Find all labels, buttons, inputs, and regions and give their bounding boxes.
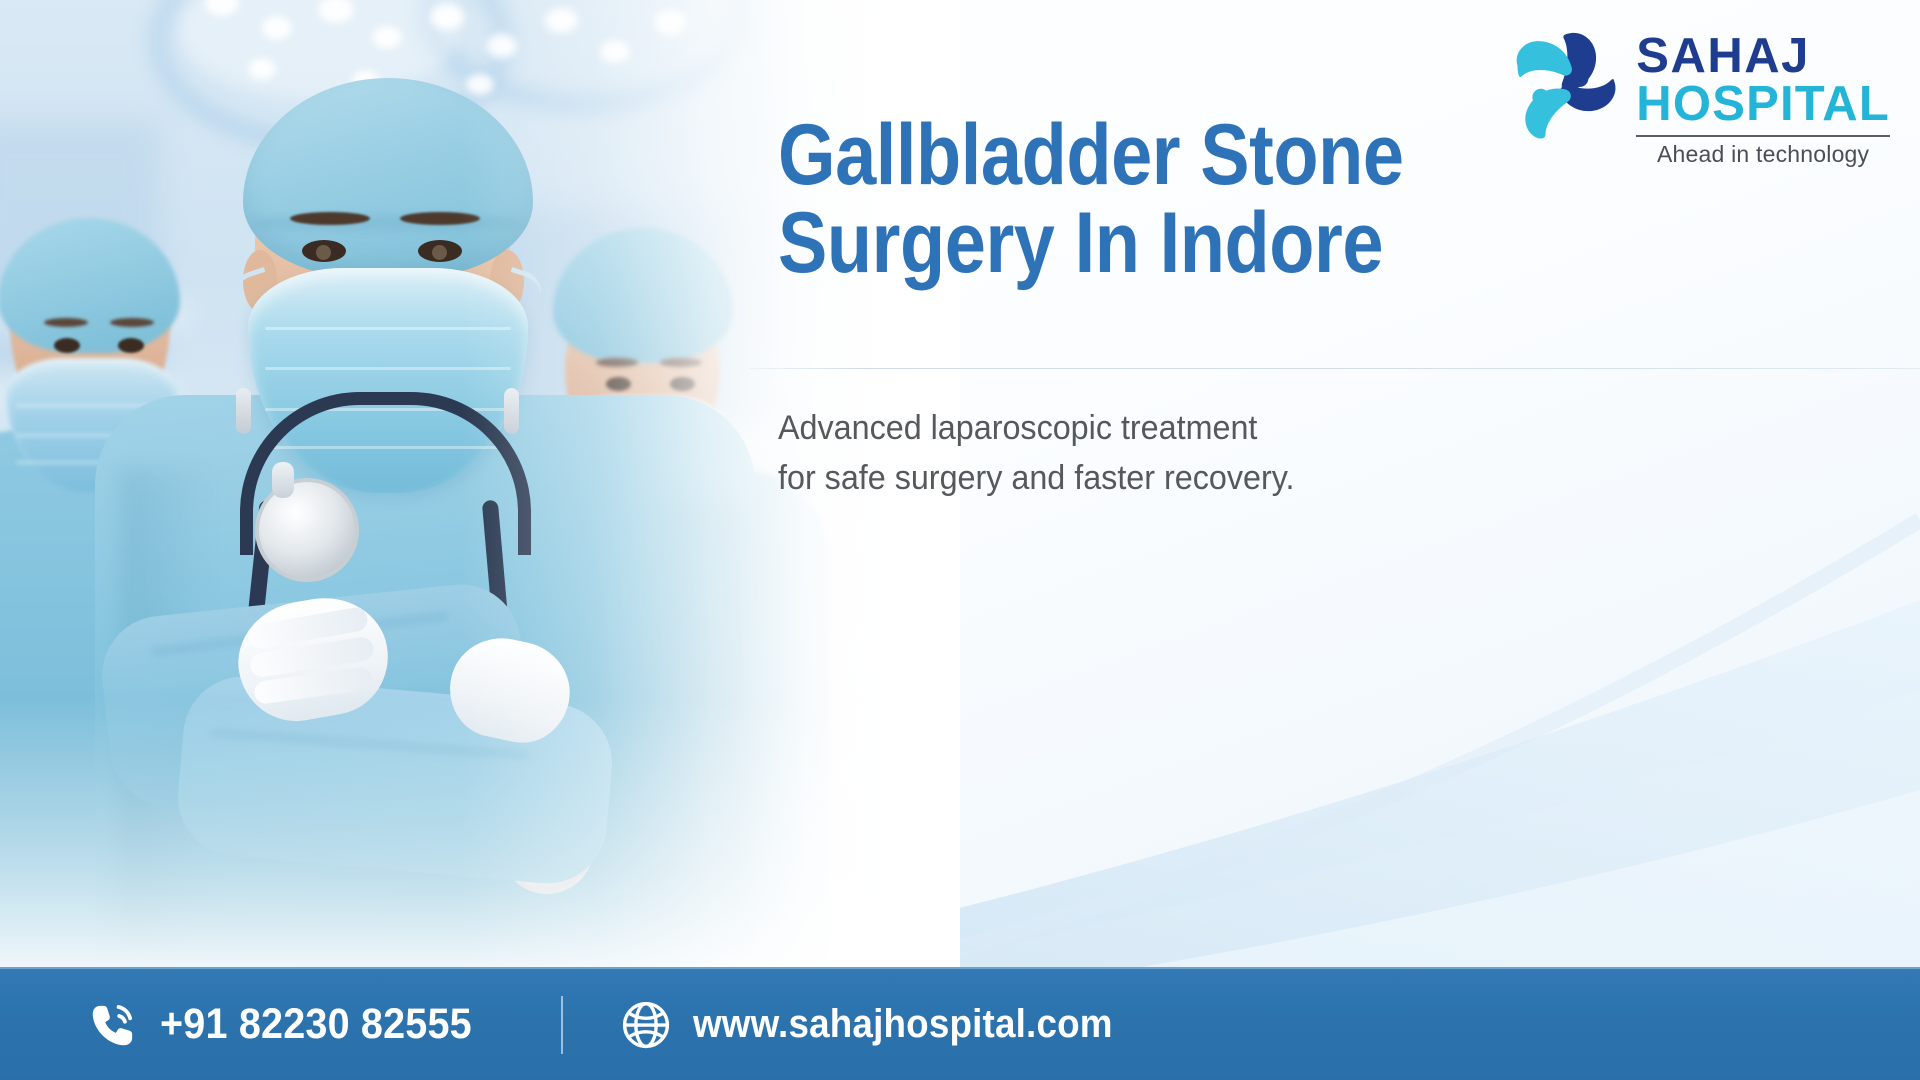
promotional-banner: Gallbladder Stone Surgery In Indore Adva… (0, 0, 1920, 1080)
brand-logo[interactable]: SAHAJ HOSPITAL Ahead in technology (1510, 26, 1890, 168)
phone-call-icon (86, 998, 140, 1052)
page-title: Gallbladder Stone Surgery In Indore (778, 112, 1552, 287)
subhead-line-1: Advanced laparoscopic treatment (778, 409, 1257, 447)
phone-number: +91 82230 82555 (160, 1000, 472, 1049)
page-subtitle: Advanced laparoscopic treatment for safe… (778, 404, 1294, 504)
contact-divider (561, 996, 563, 1054)
headline-line-1: Gallbladder Stone (778, 107, 1404, 203)
butterfly-pinwheel-people-icon (1510, 26, 1622, 144)
brand-name-hospital: HOSPITAL (1636, 80, 1890, 130)
brand-wordmark: SAHAJ HOSPITAL Ahead in technology (1636, 26, 1890, 168)
phone-contact[interactable]: +91 82230 82555 (86, 998, 499, 1052)
website-url: www.sahajhospital.com (693, 1002, 1113, 1047)
headline-line-2: Surgery In Indore (778, 200, 1552, 288)
globe-icon (619, 998, 673, 1052)
title-divider (750, 368, 1920, 369)
website-contact[interactable]: www.sahajhospital.com (619, 998, 1149, 1052)
brand-tagline: Ahead in technology (1636, 141, 1890, 168)
contact-bar: +91 82230 82555 www.sahajhospital.com (0, 967, 1920, 1080)
subhead-line-2: for safe surgery and faster recovery. (778, 459, 1294, 497)
logo-underline (1636, 135, 1890, 137)
brand-name-sahaj: SAHAJ (1636, 32, 1890, 80)
